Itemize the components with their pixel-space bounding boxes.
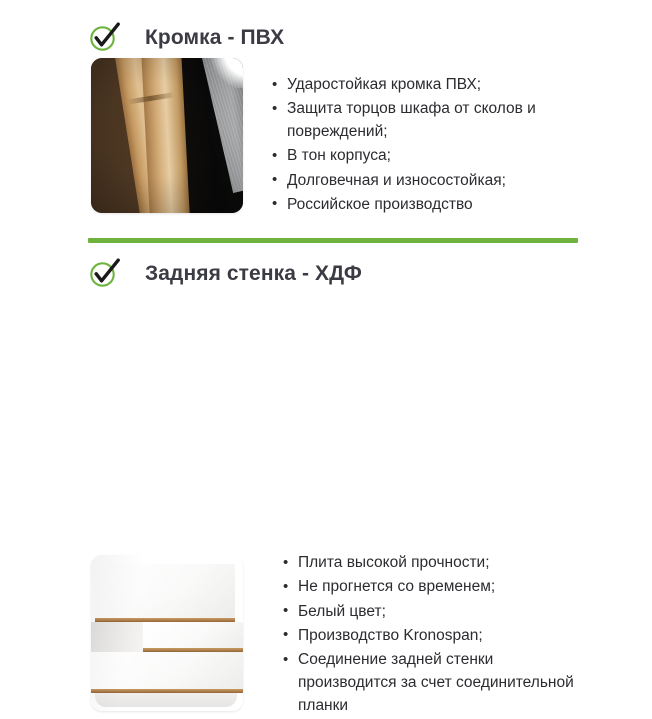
feature-bullet-list-edge: Ударостойкая кромка ПВХ; Защита торцов ш… — [272, 74, 582, 218]
photo-corner-highlight — [207, 58, 243, 88]
section-heading-back: Задняя стенка - ХДФ — [88, 256, 362, 290]
hdf-back-panel-photo — [91, 555, 243, 711]
list-item: Соединение задней стенки производится за… — [283, 649, 583, 717]
green-divider — [88, 238, 578, 243]
list-item: Производство Kronospan; — [283, 625, 583, 648]
panel-face — [95, 564, 235, 622]
list-item: Белый цвет; — [283, 601, 583, 624]
promo-features-page: Кромка - ПВХ Ударостойкая кромка ПВХ; За… — [0, 0, 652, 500]
panel-face — [91, 652, 243, 693]
section-heading-edge: Кромка - ПВХ — [88, 20, 284, 54]
check-circle-icon — [88, 21, 122, 53]
list-item: Ударостойкая кромка ПВХ; — [272, 74, 582, 97]
feature-section-edge: Кромка - ПВХ Ударостойкая кромка ПВХ; За… — [0, 0, 652, 232]
hdf-panel-artwork — [91, 555, 243, 711]
section-title: Задняя стенка - ХДФ — [145, 263, 362, 284]
feature-bullet-list-back: Плита высокой прочности; Не прогнется со… — [283, 552, 583, 719]
list-item: В тон корпуса; — [272, 145, 582, 168]
hdf-panel-lower — [91, 652, 243, 693]
pvc-edge-banding-photo — [91, 58, 243, 213]
hdf-panel-middle — [143, 622, 243, 652]
list-item: Долговечная и износостойкая; — [272, 170, 582, 193]
hdf-panel-top — [95, 564, 235, 622]
list-item: Защита торцов шкафа от сколов и поврежде… — [272, 98, 582, 144]
edge-banding-artwork — [91, 58, 243, 213]
panel-recess — [91, 622, 145, 653]
section-title: Кромка - ПВХ — [145, 27, 284, 48]
hdf-panel-bottom — [95, 693, 237, 707]
list-item: Плита высокой прочности; — [283, 552, 583, 575]
list-item: Не прогнется со временем; — [283, 576, 583, 599]
check-circle-icon — [88, 257, 122, 289]
feature-section-back: Задняя стенка - ХДФ — [0, 248, 652, 500]
list-item: Российское производство — [272, 194, 582, 217]
